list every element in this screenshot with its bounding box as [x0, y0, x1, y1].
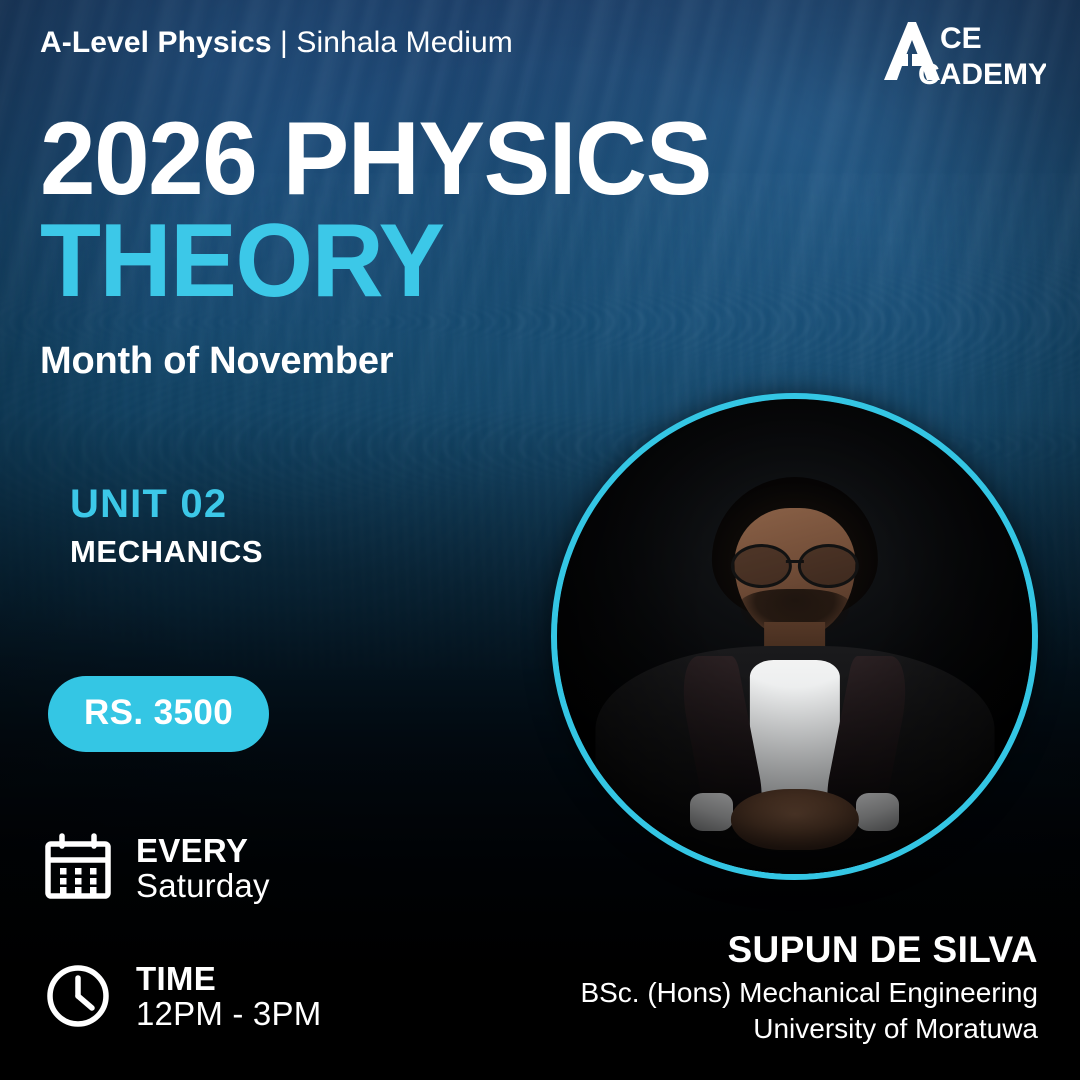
price-badge[interactable]: RS. 3500	[48, 676, 269, 752]
schedule-item-day: EVERY Saturday	[42, 832, 270, 904]
hero-subtitle: Month of November	[40, 340, 393, 383]
title-line-1: 2026 PHYSICS	[40, 112, 711, 208]
title-line-2: THEORY	[40, 214, 711, 310]
svg-text:CADEMY: CADEMY	[918, 58, 1046, 90]
instructor-portrait	[551, 393, 1038, 880]
unit-label: UNIT 02	[70, 482, 227, 527]
clock-icon	[42, 960, 114, 1032]
calendar-icon	[42, 832, 114, 904]
ace-academy-logo: CE CADEMY	[878, 18, 1046, 90]
instructor-name: SUPUN DE SILVA	[580, 928, 1038, 972]
portrait-shadow	[557, 399, 1032, 874]
unit-name: MECHANICS	[70, 534, 263, 570]
promo-poster: A-Level Physics | Sinhala Medium CE CADE…	[0, 0, 1080, 1080]
instructor-university: University of Moratuwa	[580, 1012, 1038, 1046]
page-title: 2026 PHYSICS THEORY	[40, 112, 739, 309]
instructor-credentials: SUPUN DE SILVA BSc. (Hons) Mechanical En…	[580, 928, 1038, 1046]
schedule-time-value: 12PM - 3PM	[136, 996, 321, 1031]
kicker-medium: | Sinhala Medium	[272, 26, 513, 59]
course-kicker: A-Level Physics | Sinhala Medium	[40, 26, 513, 60]
instructor-degree: BSc. (Hons) Mechanical Engineering	[580, 976, 1038, 1010]
schedule-day-title: EVERY	[136, 833, 270, 868]
svg-text:CE: CE	[940, 22, 982, 55]
schedule-time-title: TIME	[136, 961, 321, 996]
schedule-item-time: TIME 12PM - 3PM	[42, 960, 321, 1032]
schedule-day-value: Saturday	[136, 868, 270, 903]
kicker-subject: A-Level Physics	[40, 26, 272, 59]
